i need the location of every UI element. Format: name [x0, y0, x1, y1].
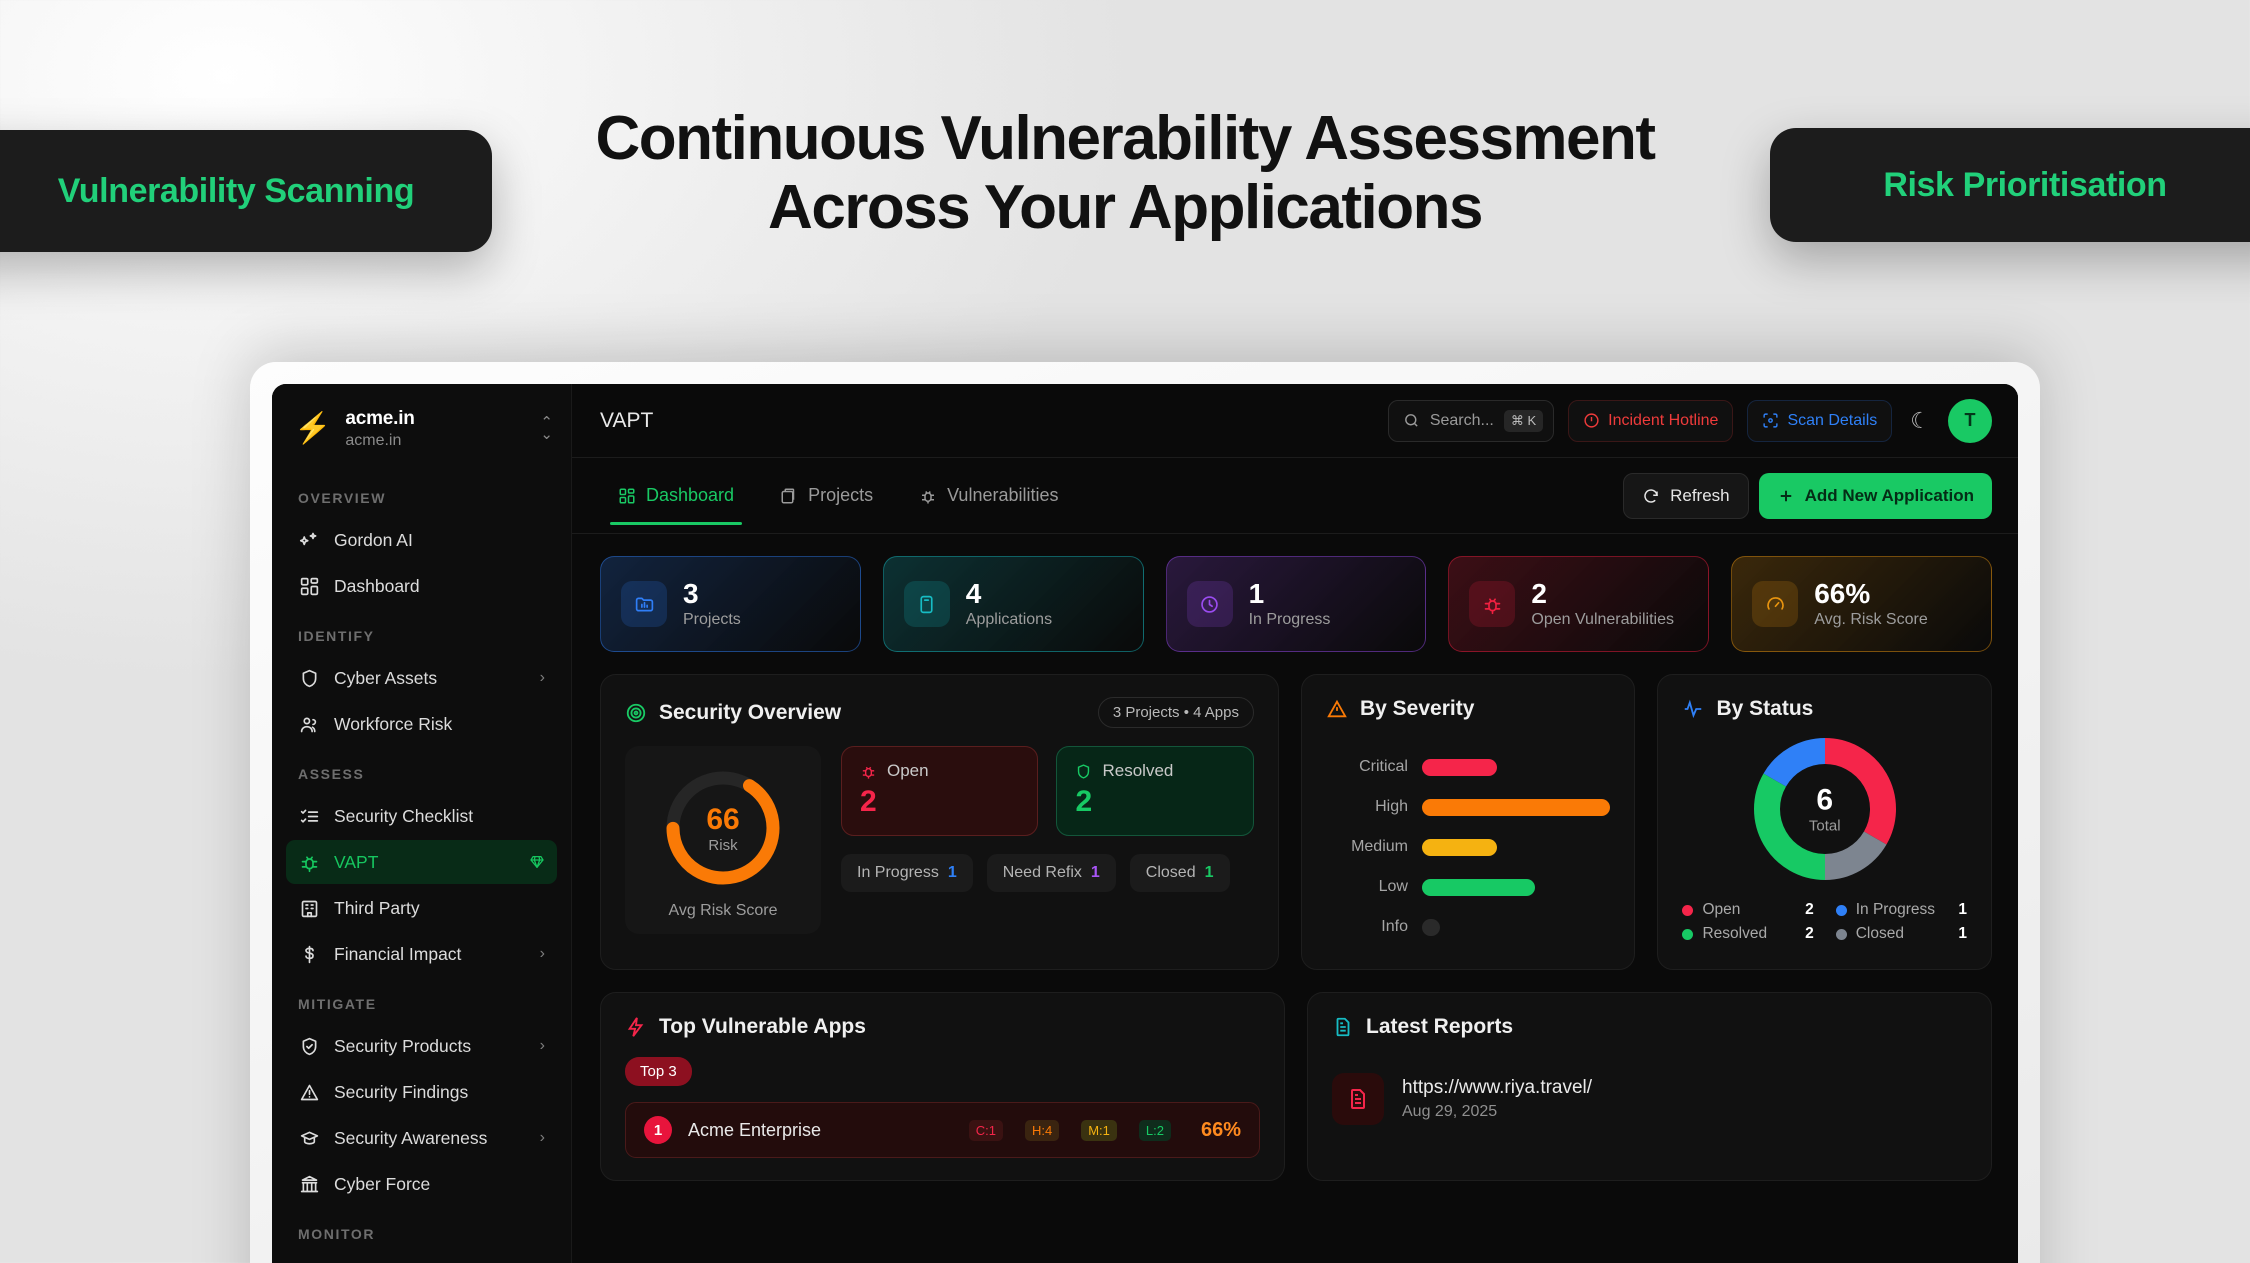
- tab-dashboard-label: Dashboard: [646, 485, 734, 506]
- chevron-right-icon: ›: [540, 669, 545, 687]
- app-name: Acme Enterprise: [688, 1120, 947, 1141]
- legend-value: 1: [1958, 925, 1967, 943]
- lightning-icon: [625, 1016, 647, 1038]
- sidebar-item-vapt[interactable]: VAPT: [286, 840, 557, 884]
- severity-badge-critical: C:1: [969, 1120, 1003, 1141]
- scan-details-button[interactable]: Scan Details: [1747, 400, 1892, 442]
- alert-circle-icon: [1583, 412, 1600, 429]
- legend-label: In Progress: [1856, 901, 1935, 919]
- incident-hotline-label: Incident Hotline: [1608, 412, 1718, 430]
- shield-icon: [1075, 763, 1092, 780]
- sidebar-item-label: Security Checklist: [334, 806, 545, 827]
- plus-icon: [1777, 487, 1795, 505]
- search-placeholder: Search...: [1430, 412, 1494, 430]
- app-icon: [904, 581, 950, 627]
- theme-toggle-moon-icon[interactable]: ☾: [1906, 408, 1934, 434]
- target-icon: [625, 702, 647, 724]
- alert-triangle-icon: [1326, 698, 1348, 720]
- tab-vulnerabilities-label: Vulnerabilities: [947, 485, 1058, 506]
- grid-icon: [298, 575, 320, 597]
- folder-chart-icon: [621, 581, 667, 627]
- legend-dot: [1836, 929, 1847, 940]
- clock-icon: [1187, 581, 1233, 627]
- sidebar: ⚡ acme.in acme.in ⌃⌄ OVERVIEW Gordon AI …: [272, 384, 572, 1263]
- severity-bar: [1422, 799, 1610, 816]
- sidebar-item-gordon-ai[interactable]: Gordon AI: [286, 518, 557, 562]
- severity-bar: [1422, 839, 1498, 856]
- app-screen: ⚡ acme.in acme.in ⌃⌄ OVERVIEW Gordon AI …: [272, 384, 2018, 1263]
- scan-icon: [1762, 412, 1779, 429]
- severity-badge-low: L:2: [1139, 1120, 1171, 1141]
- alert-triangle-icon: [298, 1081, 320, 1103]
- sidebar-section-label: OVERVIEW: [272, 472, 571, 516]
- latest-reports-card: Latest Reports https://www.riya.travel/ …: [1307, 992, 1992, 1181]
- severity-label: Low: [1326, 878, 1408, 896]
- bug-icon: [1469, 581, 1515, 627]
- kpi-card-applications[interactable]: 4 Applications: [883, 556, 1144, 652]
- sidebar-item-label: Workforce Risk: [334, 714, 545, 735]
- building-icon: [298, 897, 320, 919]
- sidebar-item-label: Gordon AI: [334, 530, 545, 551]
- top-bar: VAPT Search... ⌘ K Incident Hotline: [572, 384, 2018, 458]
- by-severity-title: By Severity: [1360, 697, 1611, 721]
- kpi-card-avg-risk-score[interactable]: 66% Avg. Risk Score: [1731, 556, 1992, 652]
- org-subtitle: acme.in: [345, 432, 526, 450]
- kpi-value: 2: [1531, 579, 1674, 608]
- status-pill-in-progress[interactable]: In Progress 1: [841, 854, 973, 892]
- donut-total-label: Total: [1809, 818, 1841, 835]
- status-pill-value: 1: [948, 864, 957, 882]
- kpi-card-projects[interactable]: 3 Projects: [600, 556, 861, 652]
- chevron-right-icon: ›: [540, 1129, 545, 1147]
- report-file-icon: [1332, 1073, 1384, 1125]
- severity-label: High: [1326, 798, 1408, 816]
- folder-icon: [780, 487, 798, 505]
- legend-item-in-progress: In Progress 1: [1836, 901, 1967, 919]
- sidebar-item-label: Dashboard: [334, 576, 545, 597]
- org-switcher[interactable]: ⚡ acme.in acme.in ⌃⌄: [272, 384, 571, 472]
- kpi-value: 66%: [1814, 579, 1928, 608]
- gem-icon: [529, 854, 545, 870]
- status-pill-value: 1: [1091, 864, 1100, 882]
- kpi-label: Applications: [966, 611, 1052, 629]
- kpi-value: 1: [1249, 579, 1331, 608]
- severity-bar: [1422, 879, 1535, 896]
- sidebar-item-label: Third Party: [334, 898, 545, 919]
- legend-item-closed: Closed 1: [1836, 925, 1967, 943]
- resolved-tile-label: Resolved: [1102, 761, 1173, 781]
- main-area: VAPT Search... ⌘ K Incident Hotline: [572, 384, 2018, 1263]
- top3-badge: Top 3: [625, 1057, 692, 1086]
- risk-gauge-value: 66: [706, 803, 739, 837]
- sidebar-item-third-party[interactable]: Third Party: [286, 886, 557, 930]
- risk-gauge: 66 Risk Avg Risk Score: [625, 746, 821, 934]
- kpi-card-row: 3 Projects 4 Applications 1 In Progress …: [600, 556, 1992, 652]
- security-overview-title: Security Overview: [659, 701, 1086, 725]
- sidebar-item-cyber-assets[interactable]: Cyber Assets ›: [286, 656, 557, 700]
- org-name: acme.in: [345, 408, 526, 430]
- kpi-value: 4: [966, 579, 1052, 608]
- legend-value: 1: [1958, 901, 1967, 919]
- refresh-label: Refresh: [1670, 486, 1730, 506]
- by-status-title: By Status: [1716, 697, 1967, 721]
- tab-projects-label: Projects: [808, 485, 873, 506]
- report-date: Aug 29, 2025: [1402, 1103, 1592, 1121]
- app-rank: 1: [644, 1116, 672, 1144]
- sidebar-item-security-checklist[interactable]: Security Checklist: [286, 794, 557, 838]
- document-icon: [1332, 1016, 1354, 1038]
- sidebar-item-label: Cyber Force: [334, 1174, 545, 1195]
- severity-label: Info: [1326, 918, 1408, 936]
- chevron-right-icon: ›: [540, 1037, 545, 1055]
- dashboard-content: 3 Projects 4 Applications 1 In Progress …: [572, 534, 2018, 1263]
- severity-label: Medium: [1326, 838, 1408, 856]
- sidebar-item-label: Security Awareness: [334, 1128, 526, 1149]
- sidebar-section-label: MONITOR: [272, 1208, 571, 1252]
- projects-apps-chip: 3 Projects • 4 Apps: [1098, 697, 1254, 728]
- open-tile-label: Open: [887, 761, 929, 781]
- legend-dot: [1682, 929, 1693, 940]
- status-pill-need-refix[interactable]: Need Refix 1: [987, 854, 1116, 892]
- search-shortcut: ⌘ K: [1504, 410, 1543, 432]
- kpi-card-in-progress[interactable]: 1 In Progress: [1166, 556, 1427, 652]
- status-pill-label: Closed: [1146, 864, 1196, 882]
- legend-item-resolved: Resolved 2: [1682, 925, 1813, 943]
- status-pill-label: Need Refix: [1003, 864, 1082, 882]
- severity-badge-high: H:4: [1025, 1120, 1059, 1141]
- latest-reports-title: Latest Reports: [1366, 1015, 1967, 1039]
- kpi-label: Projects: [683, 611, 741, 629]
- bottom-row: Top Vulnerable Apps Top 3 1 Acme Enterpr…: [600, 992, 1992, 1181]
- legend-value: 2: [1805, 901, 1814, 919]
- sidebar-item-security-products[interactable]: Security Products ›: [286, 1024, 557, 1068]
- by-status-card: By Status 6 Total Open 2 In Pro: [1657, 674, 1992, 970]
- scan-details-label: Scan Details: [1787, 412, 1877, 430]
- severity-row-info: Info: [1326, 907, 1611, 947]
- legend-dot: [1836, 905, 1847, 916]
- sidebar-item-label: Security Products: [334, 1036, 526, 1057]
- sidebar-item-cyber-force[interactable]: Cyber Force: [286, 1162, 557, 1206]
- shield-icon: [298, 667, 320, 689]
- status-pill-value: 1: [1205, 864, 1214, 882]
- legend-label: Open: [1702, 901, 1740, 919]
- tab-projects[interactable]: Projects: [762, 467, 891, 525]
- add-new-application-label: Add New Application: [1805, 486, 1974, 506]
- gauge-icon: [1752, 581, 1798, 627]
- sidebar-section-label: ASSESS: [272, 748, 571, 792]
- page-title: VAPT: [600, 409, 1374, 433]
- severity-label: Critical: [1326, 758, 1408, 776]
- feature-pill-risk-prioritisation: Risk Prioritisation: [1770, 128, 2250, 242]
- sidebar-item-security-awareness[interactable]: Security Awareness ›: [286, 1116, 557, 1160]
- kpi-label: Avg. Risk Score: [1814, 611, 1928, 629]
- legend-label: Closed: [1856, 925, 1904, 943]
- activity-icon: [1682, 698, 1704, 720]
- kpi-label: In Progress: [1249, 611, 1331, 629]
- tab-dashboard[interactable]: Dashboard: [600, 467, 752, 525]
- status-pill-closed[interactable]: Closed 1: [1130, 854, 1230, 892]
- add-new-application-button[interactable]: Add New Application: [1759, 473, 1992, 519]
- resolved-vulnerabilities-tile[interactable]: Resolved 2: [1056, 746, 1254, 836]
- graduation-icon: [298, 1127, 320, 1149]
- risk-gauge-caption: Avg Risk Score: [668, 902, 777, 920]
- bank-icon: [298, 1173, 320, 1195]
- search-input[interactable]: Search... ⌘ K: [1388, 400, 1554, 442]
- sidebar-section-label: IDENTIFY: [272, 610, 571, 654]
- severity-bar-chart: Critical High Medium Low Info: [1326, 747, 1611, 947]
- refresh-icon: [1642, 487, 1660, 505]
- overview-row: Security Overview 3 Projects • 4 Apps: [600, 674, 1992, 970]
- kpi-value: 3: [683, 579, 741, 608]
- sidebar-item-label: Cyber Assets: [334, 668, 526, 689]
- report-row[interactable]: https://www.riya.travel/ Aug 29, 2025: [1332, 1073, 1967, 1125]
- top-app-row[interactable]: 1 Acme Enterprise C:1 H:4 M:1 L:2 66%: [625, 1102, 1260, 1158]
- avatar[interactable]: T: [1948, 399, 1992, 443]
- severity-row-medium: Medium: [1326, 827, 1611, 867]
- users-icon: [298, 713, 320, 735]
- sidebar-item-security-findings[interactable]: Security Findings: [286, 1070, 557, 1114]
- incident-hotline-button[interactable]: Incident Hotline: [1568, 400, 1733, 442]
- top-vulnerable-apps-card: Top Vulnerable Apps Top 3 1 Acme Enterpr…: [600, 992, 1285, 1181]
- grid-icon: [618, 487, 636, 505]
- kpi-label: Open Vulnerabilities: [1531, 611, 1674, 629]
- bug-icon: [860, 763, 877, 780]
- chevron-updown-icon: ⌃⌄: [540, 417, 553, 441]
- app-risk-score: 66%: [1201, 1119, 1241, 1142]
- refresh-button[interactable]: Refresh: [1623, 473, 1749, 519]
- legend-item-open: Open 2: [1682, 901, 1813, 919]
- legend-dot: [1682, 905, 1693, 916]
- severity-bar: [1422, 919, 1440, 936]
- search-icon: [1403, 412, 1420, 429]
- by-severity-card: By Severity Critical High Medium Low Inf…: [1301, 674, 1636, 970]
- feature-pill-vulnerability-scanning: Vulnerability Scanning: [0, 130, 492, 252]
- severity-row-low: Low: [1326, 867, 1611, 907]
- chevron-right-icon: ›: [540, 945, 545, 963]
- shield-check-icon: [298, 1035, 320, 1057]
- severity-row-high: High: [1326, 787, 1611, 827]
- bug-icon: [298, 851, 320, 873]
- sidebar-item-dashboard[interactable]: Dashboard: [286, 564, 557, 608]
- severity-badge-medium: M:1: [1081, 1120, 1117, 1141]
- status-legend: Open 2 In Progress 1 Resolved 2 Closed 1: [1682, 901, 1967, 943]
- open-tile-value: 2: [860, 785, 1019, 819]
- top-vulnerable-apps-title: Top Vulnerable Apps: [659, 1015, 1260, 1039]
- tab-bar: Dashboard Projects Vulnerabilities: [572, 458, 2018, 534]
- bug-icon: [919, 487, 937, 505]
- legend-label: Resolved: [1702, 925, 1767, 943]
- tab-vulnerabilities[interactable]: Vulnerabilities: [901, 467, 1076, 525]
- dollar-icon: [298, 943, 320, 965]
- lightning-bolt-icon: ⚡: [294, 414, 331, 444]
- open-vulnerabilities-tile[interactable]: Open 2: [841, 746, 1038, 836]
- sidebar-item-label: Financial Impact: [334, 944, 526, 965]
- sidebar-section-label: MITIGATE: [272, 978, 571, 1022]
- sidebar-item-workforce-risk[interactable]: Workforce Risk: [286, 702, 557, 746]
- donut-total-value: 6: [1809, 784, 1841, 818]
- sidebar-item-label: Security Findings: [334, 1082, 545, 1103]
- status-pill-label: In Progress: [857, 864, 939, 882]
- risk-gauge-inner-label: Risk: [708, 837, 737, 854]
- checklist-icon: [298, 805, 320, 827]
- report-url: https://www.riya.travel/: [1402, 1077, 1592, 1099]
- laptop-frame: ⚡ acme.in acme.in ⌃⌄ OVERVIEW Gordon AI …: [250, 362, 2040, 1263]
- sidebar-item-label: VAPT: [334, 852, 515, 873]
- sparkle-icon: [298, 529, 320, 551]
- sidebar-item-financial-impact[interactable]: Financial Impact ›: [286, 932, 557, 976]
- severity-bar: [1422, 759, 1498, 776]
- security-overview-card: Security Overview 3 Projects • 4 Apps: [600, 674, 1279, 970]
- status-pill-row: In Progress 1 Need Refix 1 Closed 1: [841, 854, 1254, 892]
- kpi-card-open-vulnerabilities[interactable]: 2 Open Vulnerabilities: [1448, 556, 1709, 652]
- legend-value: 2: [1805, 925, 1814, 943]
- top-apps-list: 1 Acme Enterprise C:1 H:4 M:1 L:2 66%: [625, 1102, 1260, 1158]
- latest-reports-list: https://www.riya.travel/ Aug 29, 2025: [1332, 1073, 1967, 1125]
- severity-row-critical: Critical: [1326, 747, 1611, 787]
- status-donut-chart: 6 Total Open 2 In Progress 1 Resolved 2 …: [1682, 733, 1967, 943]
- resolved-tile-value: 2: [1075, 785, 1235, 819]
